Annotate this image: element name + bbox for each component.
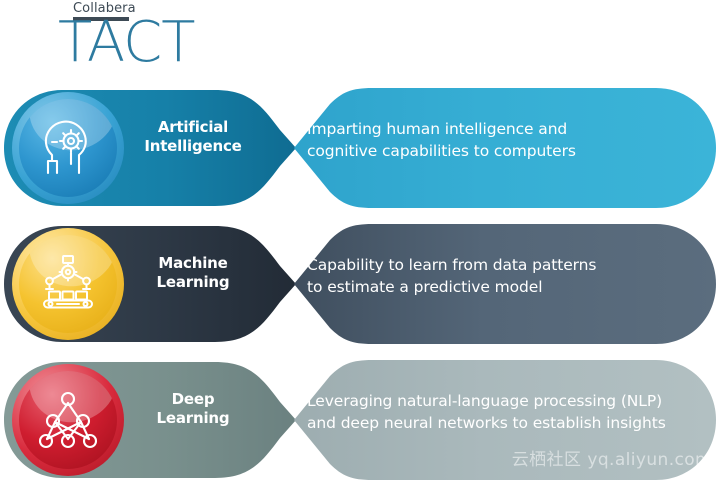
badge-artificial-intelligence	[12, 92, 124, 204]
category-label-dl-line1: Deep	[172, 390, 215, 408]
description-ml-line1: Capability to learn from data patterns	[307, 256, 596, 274]
badge-machine-learning	[12, 228, 124, 340]
watermark-cn-text: 云栖社区	[512, 450, 582, 470]
head-gear-icon	[12, 92, 124, 204]
brand-logo: Collabera TACT	[56, 0, 256, 82]
category-label-dl-line2: Learning	[135, 409, 251, 428]
description-dl: Leveraging natural-language processing (…	[307, 390, 687, 434]
description-ml-line2: to estimate a predictive model	[307, 276, 687, 298]
watermark-url-text: yq.aliyun.com	[587, 450, 712, 470]
logo-product-text: TACT	[58, 17, 256, 69]
category-label-ai-line2: Intelligence	[135, 137, 251, 156]
description-ai: Imparting human intelligence and cogniti…	[307, 118, 687, 162]
description-ai-line1: Imparting human intelligence and	[307, 120, 567, 138]
category-label-ml-line1: Machine	[158, 254, 227, 272]
description-dl-line1: Leveraging natural-language processing (…	[307, 392, 662, 410]
description-dl-line2: and deep neural networks to establish in…	[307, 412, 687, 434]
category-label-dl: Deep Learning	[135, 390, 251, 428]
row-machine-learning: Machine Learning Capability to learn fro…	[0, 222, 720, 346]
description-ai-line2: cognitive capabilities to computers	[307, 140, 687, 162]
row-artificial-intelligence: Artificial Intelligence Imparting human …	[0, 86, 720, 210]
badge-deep-learning	[12, 364, 124, 476]
category-label-ml-line2: Learning	[135, 273, 251, 292]
category-label-ai-line1: Artificial	[158, 118, 228, 136]
neural-network-icon	[12, 364, 124, 476]
category-label-ml: Machine Learning	[135, 254, 251, 292]
infographic-canvas: Collabera TACT	[0, 0, 720, 476]
watermark: 云栖社区yq.aliyun.com	[512, 445, 712, 470]
conveyor-robot-icon	[12, 228, 124, 340]
category-label-ai: Artificial Intelligence	[135, 118, 251, 156]
description-ml: Capability to learn from data patterns t…	[307, 254, 687, 298]
